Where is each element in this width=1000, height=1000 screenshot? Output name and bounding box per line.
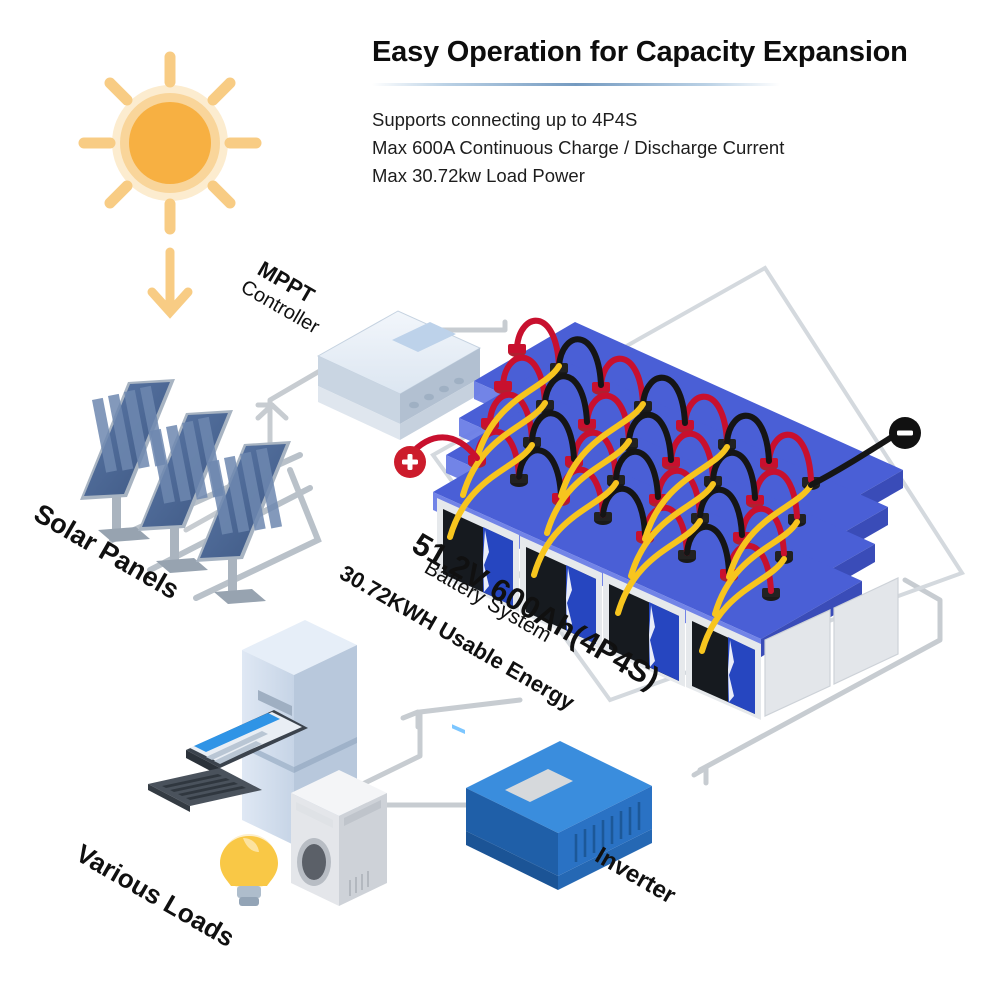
positive-terminal-badge: [394, 446, 426, 478]
washing-machine: [291, 770, 387, 906]
isometric-system-diagram: [0, 0, 1000, 1000]
battery-pack: [394, 268, 962, 741]
solar-panel-3: [196, 441, 291, 604]
sun-icon: [84, 57, 256, 312]
negative-terminal-badge: [889, 417, 921, 449]
diagram-canvas: Easy Operation for Capacity Expansion Su…: [0, 0, 1000, 1000]
sun-direction-arrow: [152, 252, 188, 312]
light-bulb: [220, 834, 278, 906]
